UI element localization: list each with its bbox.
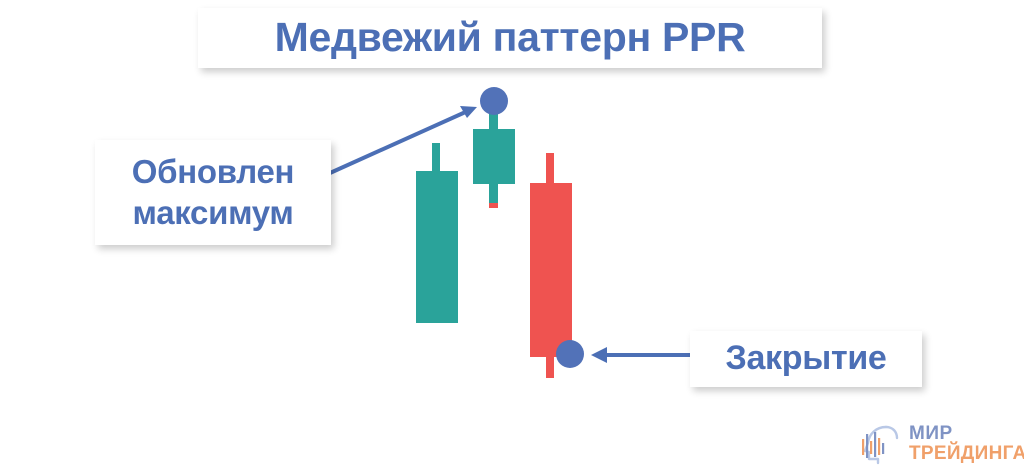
annotation-right-line1: Закрытие: [725, 340, 886, 377]
arrow-up-right: [330, 106, 477, 173]
annotation-right: Закрытие: [690, 331, 922, 387]
brand-logo-line1: МИР: [909, 424, 1024, 444]
brand-logo: МИР ТРЕЙДИНГА: [856, 420, 1012, 468]
candle-3-wick-lower: [546, 353, 554, 378]
arrow-left: [591, 347, 690, 363]
candle-3-wick-upper: [546, 153, 554, 188]
candle-2-wick-lower: [489, 180, 498, 207]
candle-1-body: [416, 171, 458, 323]
candle-2-wick-lower-tip: [489, 203, 498, 208]
annotation-left-line1: Обновлен: [132, 152, 294, 192]
candle-2-body: [473, 129, 515, 184]
brand-logo-text: МИР ТРЕЙДИНГА: [909, 424, 1024, 464]
annotation-left: Обновлен максимум: [95, 140, 331, 245]
brand-logo-line2: ТРЕЙДИНГА: [909, 444, 1024, 464]
high-marker-dot: [480, 87, 508, 115]
close-marker-dot: [556, 340, 584, 368]
candle-3-body: [530, 183, 572, 357]
infographic-canvas: Медвежий паттерн PPR Обновлен максимум З…: [0, 0, 1024, 473]
candle-1-wick-upper: [432, 143, 440, 175]
annotation-left-line2: максимум: [133, 193, 294, 233]
candle-1-bullish: [416, 143, 458, 323]
candle-2-bullish: [473, 110, 515, 208]
head-candlestick-icon: [856, 421, 902, 467]
page-title: Медвежий паттерн PPR: [198, 8, 822, 68]
page-title-text: Медвежий паттерн PPR: [275, 16, 746, 59]
